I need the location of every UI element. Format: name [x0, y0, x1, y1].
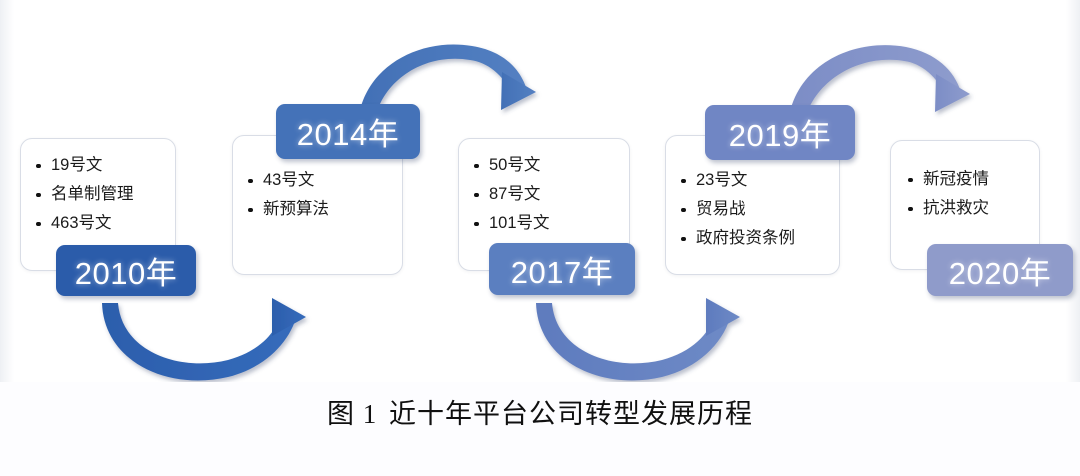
- year-badge-2010[interactable]: 2010年: [56, 245, 196, 296]
- milestone-item-list: 19号文 名单制管理 463号文: [21, 139, 175, 238]
- list-item: 抗洪救灾: [905, 194, 1039, 223]
- list-item: 19号文: [33, 151, 175, 180]
- list-item: 43号文: [245, 166, 402, 195]
- diagram-canvas: 19号文 名单制管理 463号文 43号文 新预算法 50号文 87号文 101…: [0, 0, 1080, 382]
- connector-2010-to-2014: [102, 298, 306, 380]
- milestone-item-list: 50号文 87号文 101号文: [459, 139, 629, 238]
- milestone-item-list: 新冠疫情 抗洪救灾: [891, 141, 1039, 223]
- list-item: 贸易战: [678, 195, 839, 224]
- list-item: 政府投资条例: [678, 224, 839, 253]
- figure-caption-text: 近十年平台公司转型发展历程: [389, 399, 753, 429]
- year-badge-2019[interactable]: 2019年: [705, 105, 855, 160]
- list-item: 名单制管理: [33, 180, 175, 209]
- list-item: 87号文: [471, 180, 629, 209]
- year-badge-2014[interactable]: 2014年: [276, 104, 420, 159]
- figure-caption: 图 1 近十年平台公司转型发展历程: [0, 392, 1080, 431]
- year-badge-2020[interactable]: 2020年: [927, 244, 1073, 296]
- figure-root: 19号文 名单制管理 463号文 43号文 新预算法 50号文 87号文 101…: [0, 0, 1080, 476]
- year-badge-2017[interactable]: 2017年: [489, 243, 635, 295]
- connector-2017-to-2019: [536, 298, 740, 380]
- list-item: 新预算法: [245, 195, 402, 224]
- figure-number: 图 1: [327, 399, 377, 429]
- list-item: 101号文: [471, 209, 629, 238]
- list-item: 50号文: [471, 151, 629, 180]
- list-item: 23号文: [678, 166, 839, 195]
- list-item: 463号文: [33, 209, 175, 238]
- list-item: 新冠疫情: [905, 165, 1039, 194]
